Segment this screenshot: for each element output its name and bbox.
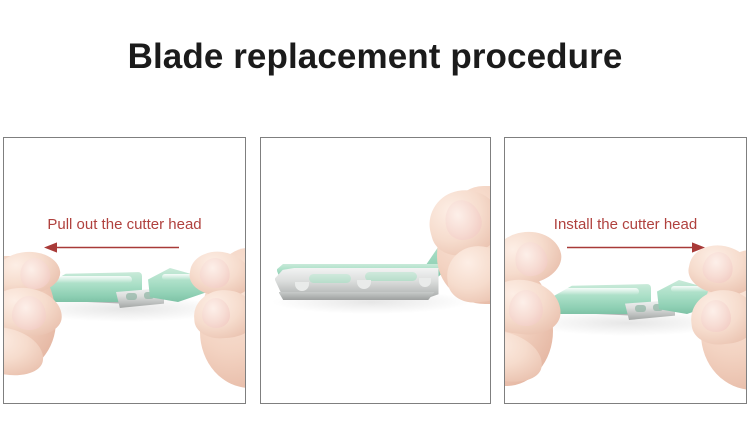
photo-peeler-blade-exposed [261,138,490,403]
panel-blade-exposed [260,137,491,404]
page-title: Blade replacement procedure [0,36,750,78]
procedure-panels: Pull out the cutter head [3,137,747,404]
panel-pull-out-caption: Pull out the cutter head [4,216,245,233]
panel-install: Install the cutter head [504,137,747,404]
arrow-right-icon [505,239,747,255]
panel-pull-out: Pull out the cutter head [3,137,246,404]
panel-install-caption: Install the cutter head [505,216,746,233]
photo-peeler-install [505,138,746,403]
photo-peeler-pull-out [4,138,245,403]
arrow-left-icon [4,239,246,255]
